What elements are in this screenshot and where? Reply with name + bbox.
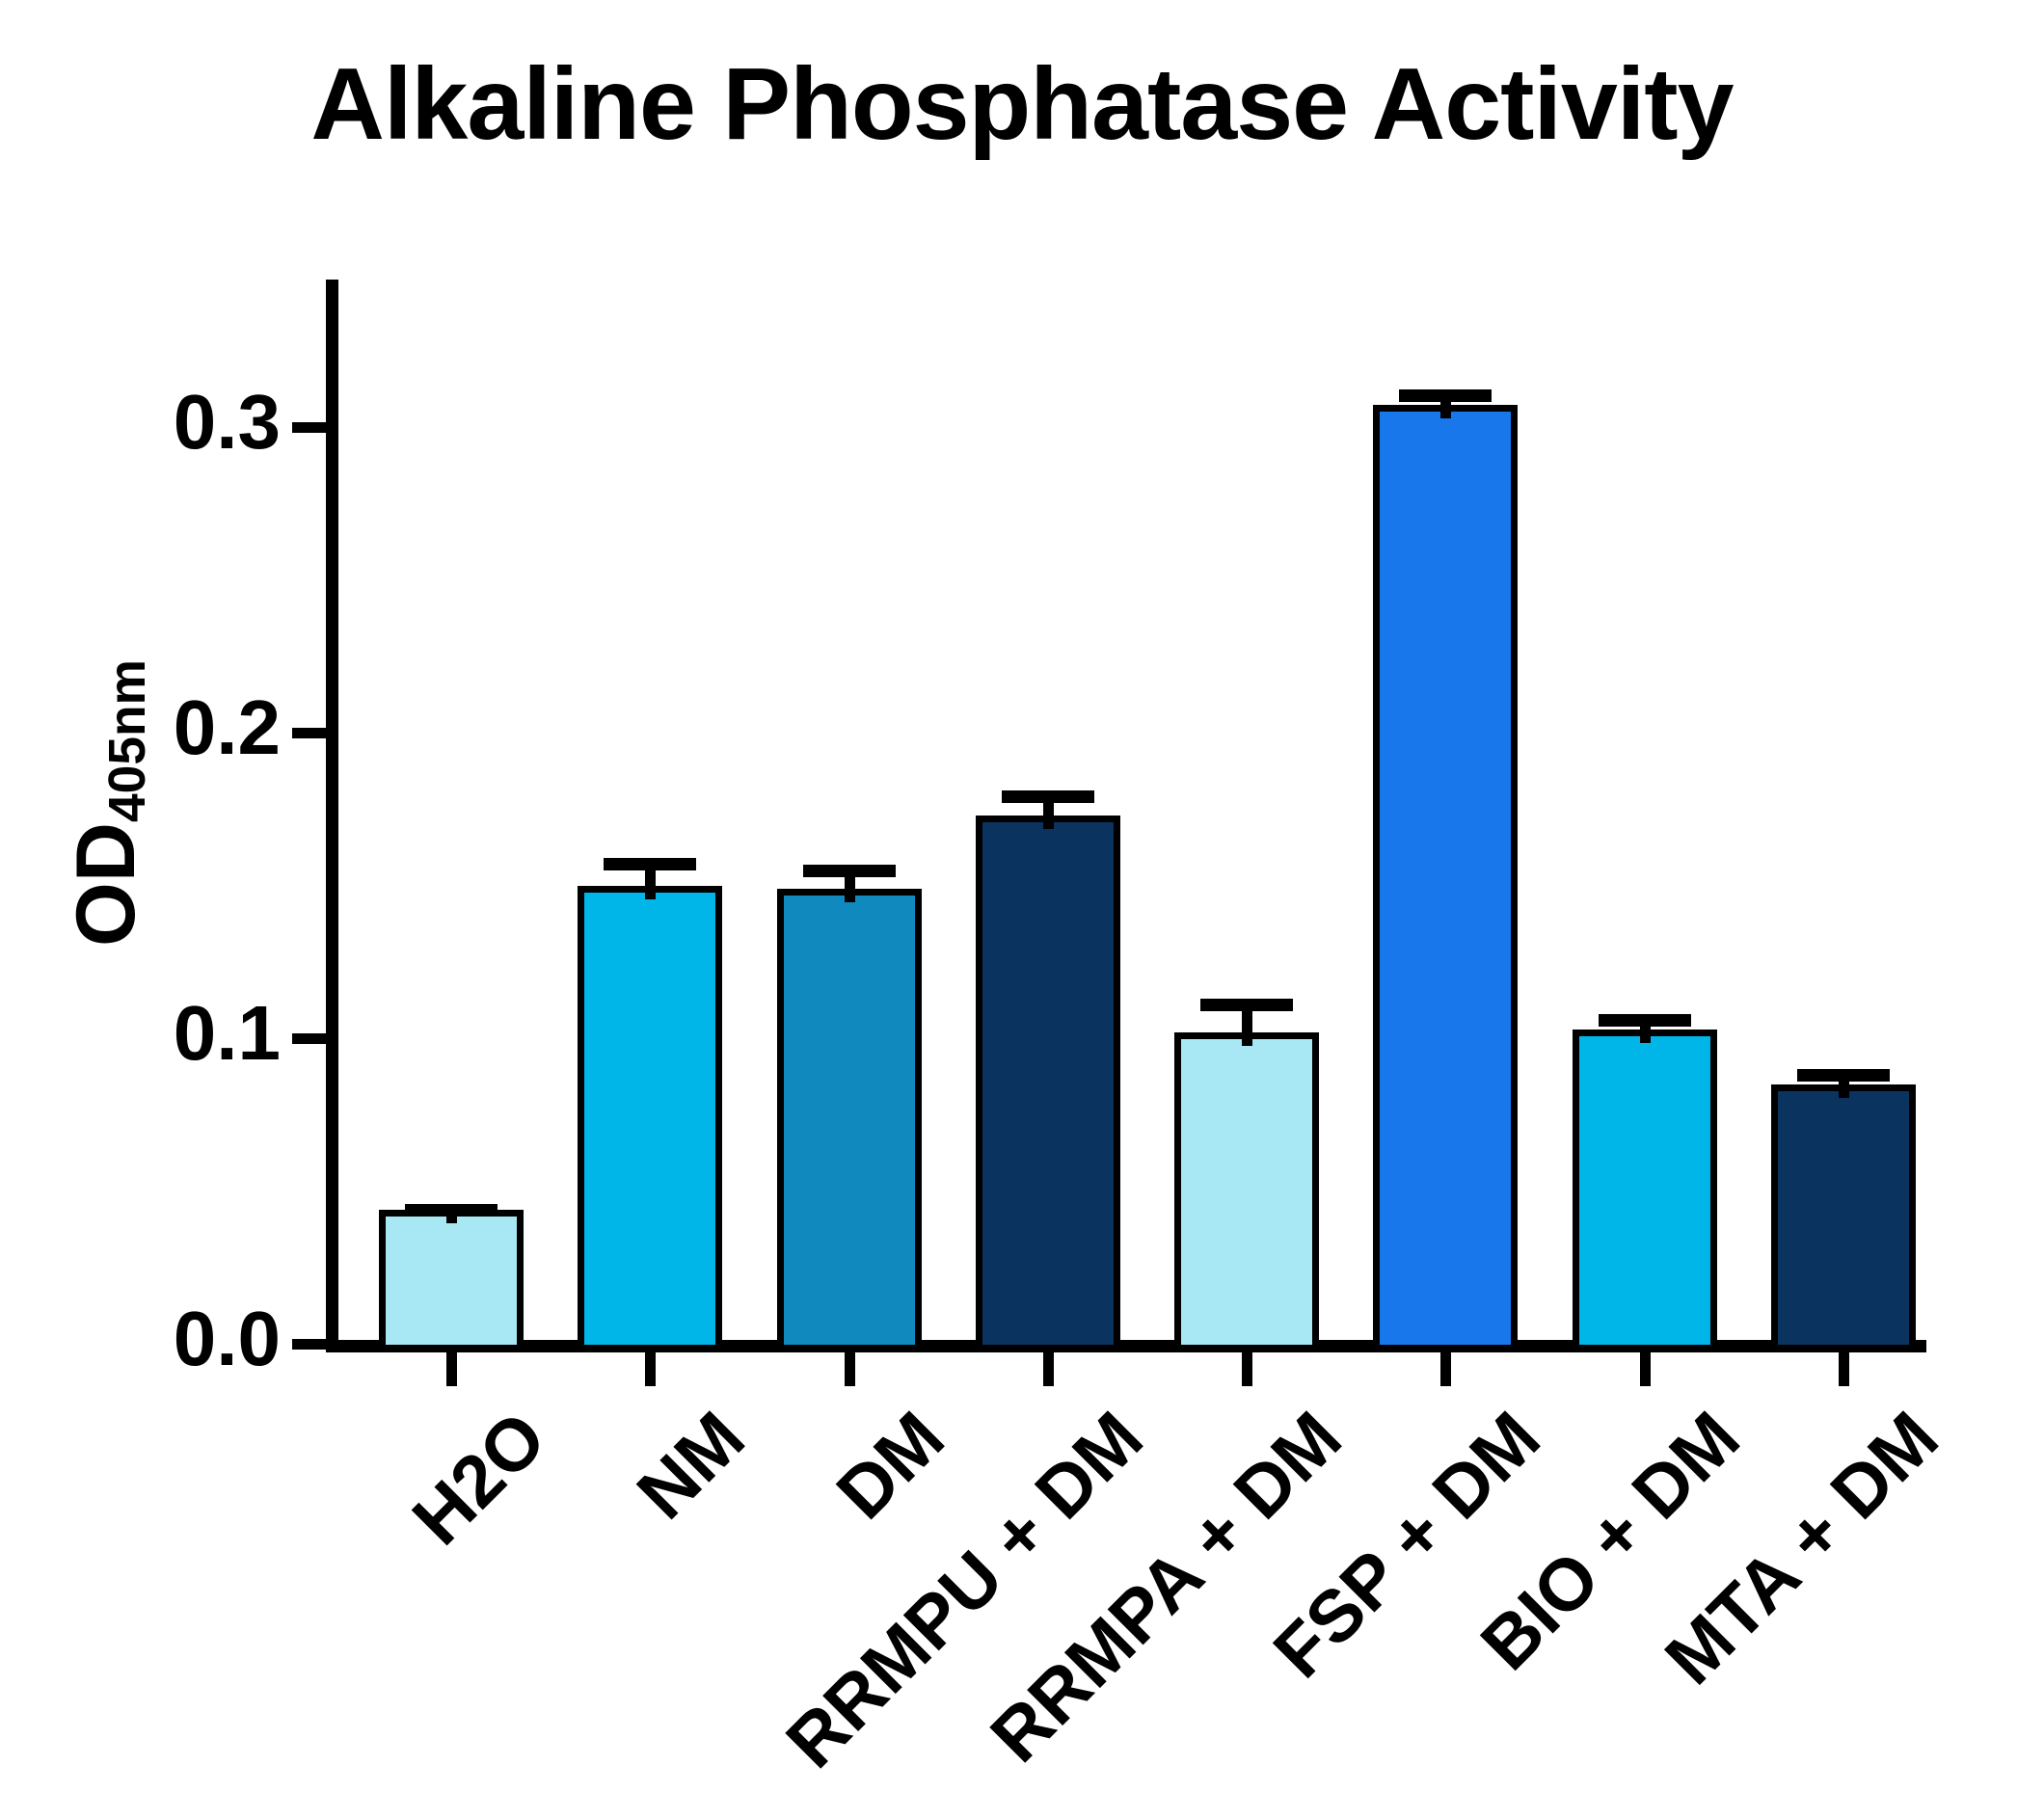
y-tick-0 (292, 1339, 329, 1350)
error-bar-cap (1599, 1014, 1691, 1027)
bar-mta-plus-dm (1771, 1084, 1916, 1351)
error-bar-cap (1797, 1069, 1890, 1082)
y-axis-title: OD405nm (65, 495, 148, 1111)
x-axis-label-4: RRMPA + DM (979, 1400, 1355, 1776)
error-bar-cap (604, 858, 696, 870)
error-bar-cap (803, 865, 896, 877)
y-tick-label-0: 0.0 (0, 1300, 281, 1378)
plot-area: 0.0 0.1 0.2 0.3 OD405nm H2ONMDMRRMPU + D… (0, 0, 2044, 1819)
error-bar-cap (405, 1204, 498, 1217)
y-axis-line (326, 280, 338, 1350)
y-axis-title-sub: 405nm (99, 659, 156, 822)
x-tick-5 (1440, 1350, 1451, 1386)
bar-rrmpa-plus-dm (1174, 1032, 1319, 1351)
x-tick-1 (645, 1350, 656, 1386)
x-axis-label-0: H2O (401, 1400, 559, 1558)
x-tick-0 (446, 1350, 457, 1386)
error-bar-cap (1399, 389, 1492, 402)
x-tick-7 (1839, 1350, 1849, 1386)
y-tick-1 (292, 1033, 329, 1044)
bar-nm (578, 886, 722, 1351)
x-axis-label-3: RRMPU + DM (774, 1400, 1156, 1781)
chart-page: Alkaline Phosphatase Activity 0.0 0.1 0.… (0, 0, 2044, 1819)
x-tick-4 (1242, 1350, 1252, 1386)
x-axis-label-2: DM (824, 1400, 956, 1532)
x-axis-label-1: NM (626, 1400, 758, 1532)
bar-bio-plus-dm (1573, 1030, 1717, 1351)
y-tick-3 (292, 422, 329, 433)
error-bar-cap (1200, 999, 1293, 1011)
error-bar-cap (1002, 790, 1094, 803)
bar-rrmpu-plus-dm (976, 816, 1120, 1351)
bar-fsp-plus-dm (1373, 405, 1518, 1351)
bar-dm (777, 889, 922, 1351)
y-tick-2 (292, 728, 329, 738)
x-tick-6 (1640, 1350, 1651, 1386)
x-tick-3 (1043, 1350, 1054, 1386)
y-tick-label-3: 0.3 (0, 384, 281, 461)
y-axis-title-main: OD (60, 822, 152, 947)
bar-h2o (379, 1210, 524, 1351)
x-tick-2 (845, 1350, 855, 1386)
